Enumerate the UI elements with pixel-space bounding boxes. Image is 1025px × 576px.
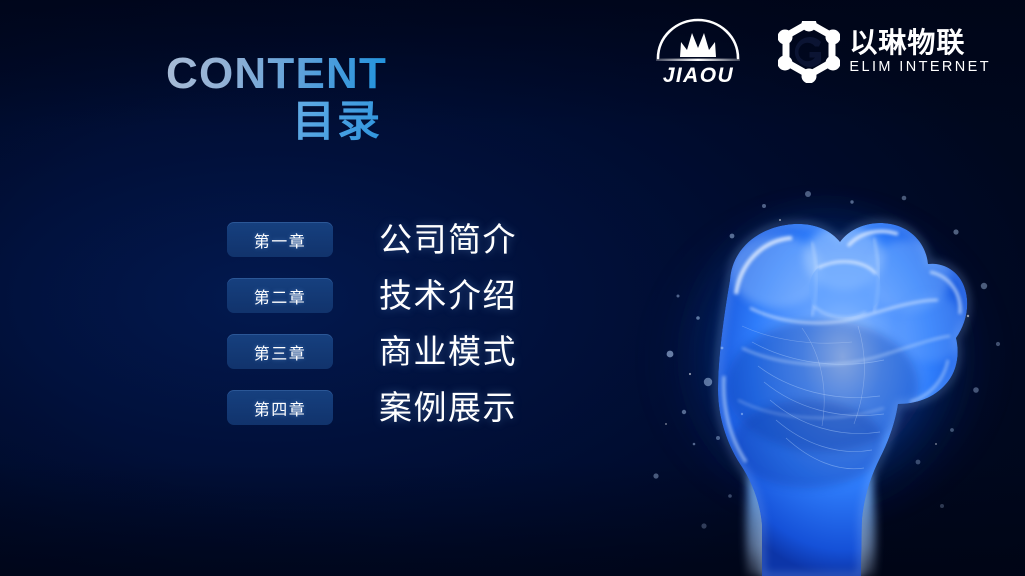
presentation-slide: JIAOU 以琳物联 ELIM INTERNET C [0,0,1025,576]
toc-item-2[interactable]: 第二章 技术介绍 [227,278,517,313]
chapter-badge-3[interactable]: 第三章 [227,334,333,369]
chapter-badge-label-1: 第一章 [254,228,307,252]
toc-label-4: 案例展示 [379,391,517,424]
jiaou-wordmark: JIAOU [663,65,734,86]
toc-label-1: 公司简介 [379,223,517,256]
chapter-badge-label-2: 第二章 [254,284,307,308]
page-title: CONTENT 目录 [166,52,386,145]
toc-item-1[interactable]: 第一章 公司简介 [227,222,517,257]
title-chinese: 目录 [166,101,382,145]
toc-label-3: 商业模式 [379,335,517,368]
chapter-badge-label-3: 第三章 [254,340,307,364]
chapter-badge-label-4: 第四章 [254,396,307,420]
toc-item-4[interactable]: 第四章 案例展示 [227,390,517,425]
chapter-badge-1[interactable]: 第一章 [227,222,333,257]
elim-chinese-name: 以琳物联 [849,28,991,57]
jiaou-logo[interactable]: JIAOU [648,18,748,86]
elim-g-molecule-icon [778,21,840,83]
toc-label-2: 技术介绍 [379,279,517,312]
elim-wordmark: 以琳物联 ELIM INTERNET [849,28,991,77]
chapter-badge-4[interactable]: 第四章 [227,390,333,425]
chapter-badge-2[interactable]: 第二章 [227,278,333,313]
sunrise-arch-emblem-icon [650,18,746,64]
brand-logos: JIAOU 以琳物联 ELIM INTERNET [648,18,991,86]
title-english: CONTENT [166,52,386,96]
toc-item-3[interactable]: 第三章 商业模式 [227,334,517,369]
table-of-contents: 第一章 公司简介 第二章 技术介绍 第三章 商业模式 第四章 案例展示 [227,222,517,425]
elim-english-name: ELIM INTERNET [849,59,991,76]
elim-logo[interactable]: 以琳物联 ELIM INTERNET [778,21,991,83]
